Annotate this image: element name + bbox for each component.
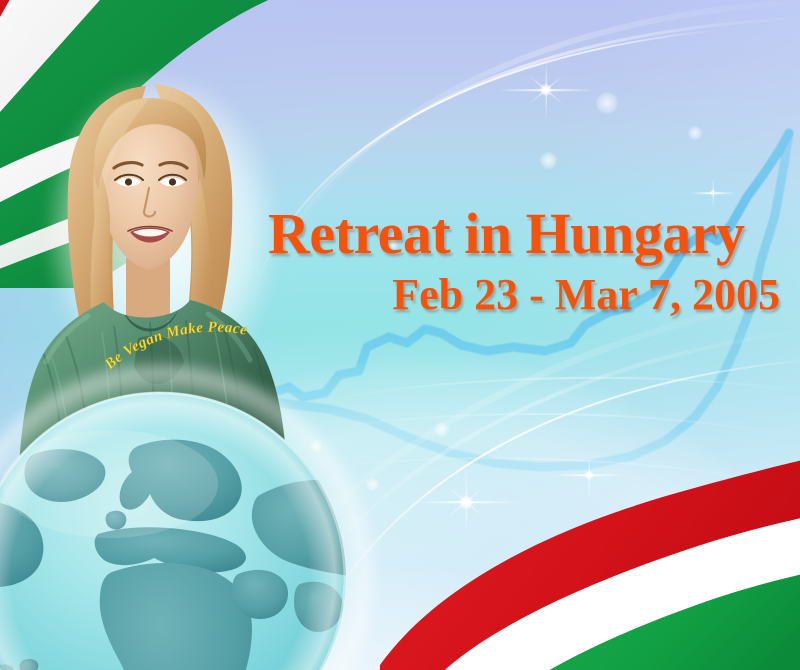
page-title: Retreat in Hungary [268,205,788,263]
event-poster: Be Vegan Make Peace [0,0,800,670]
headline-block: Retreat in Hungary Feb 23 - Mar 7, 2005 [268,205,788,317]
event-dates: Feb 23 - Mar 7, 2005 [268,273,788,317]
earth-globe [0,388,350,670]
hungarian-flag-ribbon-bottom-right [380,430,800,670]
